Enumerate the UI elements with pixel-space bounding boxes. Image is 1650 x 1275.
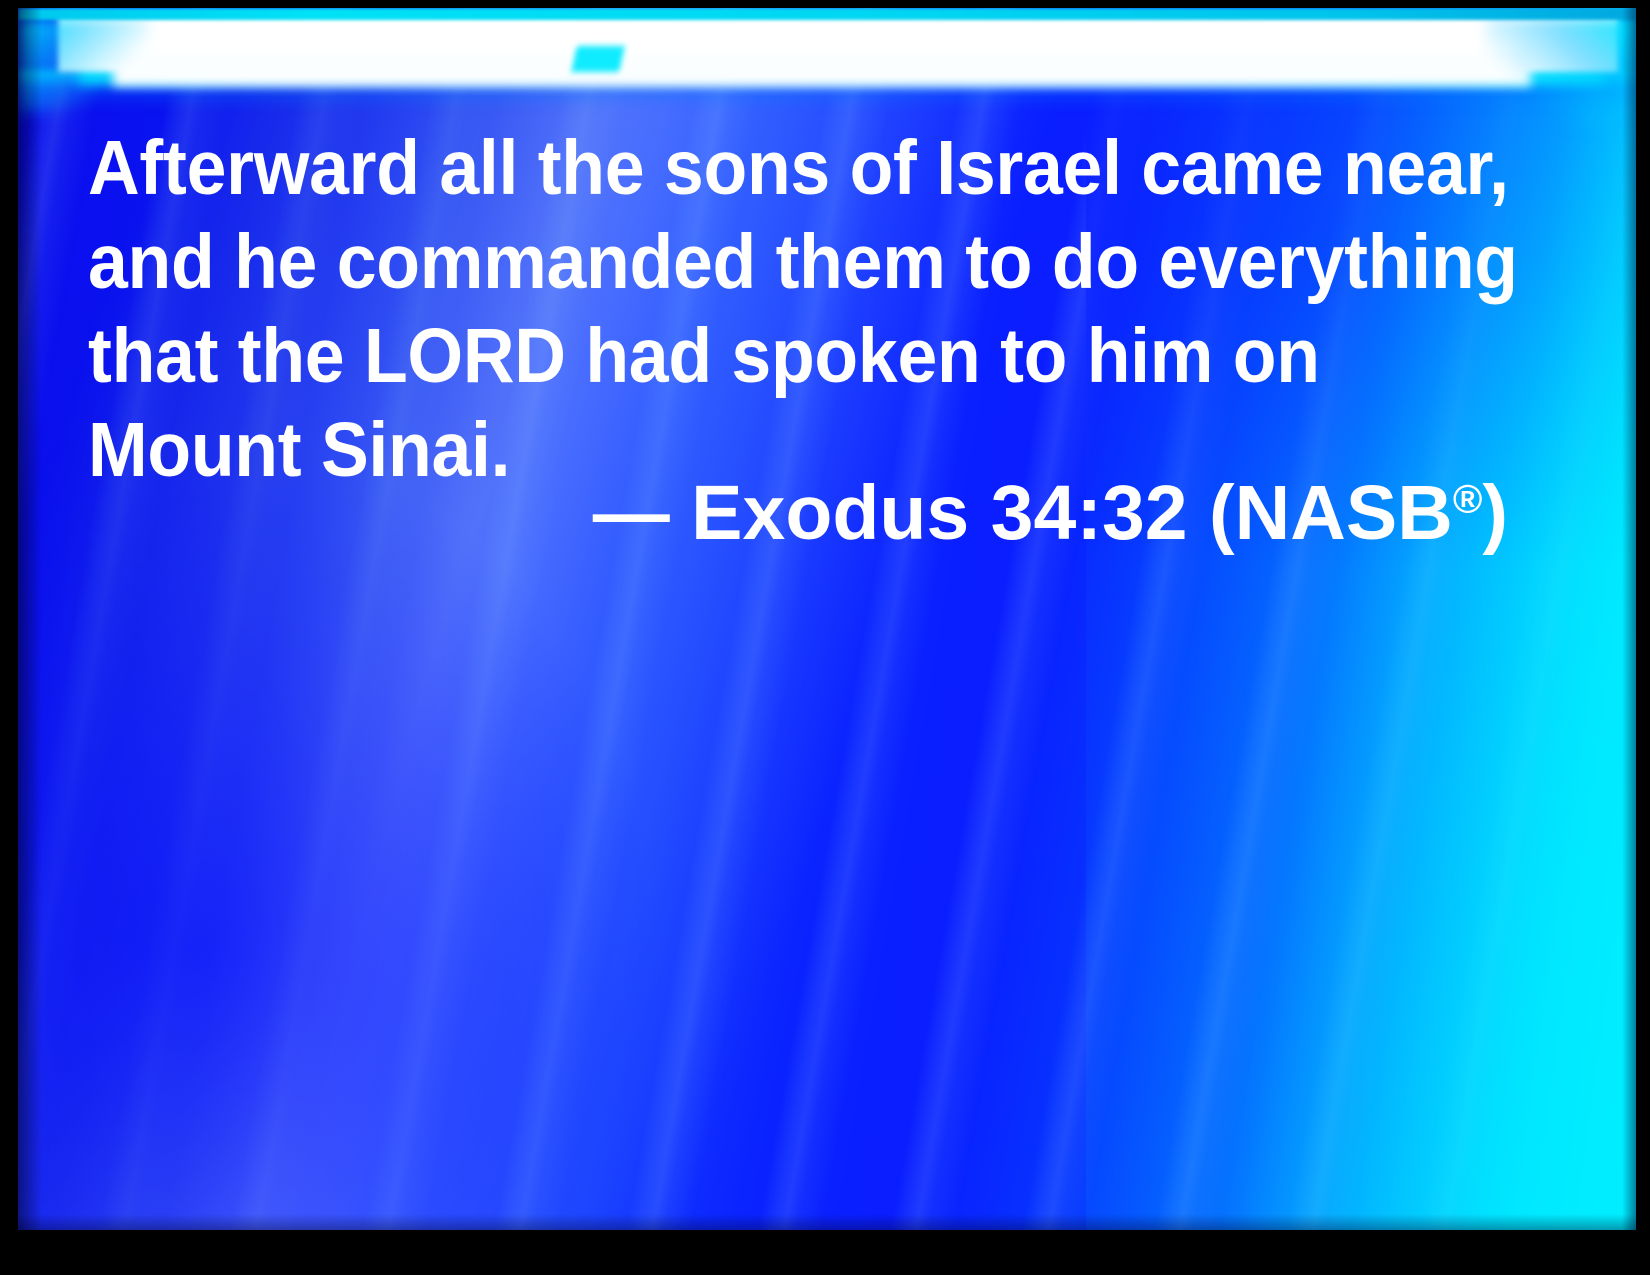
registered-trademark-icon: ® <box>1453 477 1483 521</box>
verse-line-2: and he commanded them to do everything <box>88 215 1409 309</box>
verse-text-block: Afterward all the sons of Israel came ne… <box>88 121 1508 497</box>
attribution-book: Exodus <box>691 470 969 556</box>
attribution-reference: 34:32 <box>991 470 1188 556</box>
attribution-translation-close: ) <box>1482 470 1508 556</box>
scripture-slide: Afterward all the sons of Israel came ne… <box>0 0 1650 1275</box>
verse-line-3: that the LORD had spoken to him on <box>88 309 1409 403</box>
attribution-translation-open: (NASB <box>1209 470 1453 556</box>
verse-line-1: Afterward all the sons of Israel came ne… <box>88 121 1409 215</box>
verse-attribution: — Exodus 34:32 (NASB®) <box>88 466 1508 560</box>
slide-canvas: Afterward all the sons of Israel came ne… <box>18 8 1636 1230</box>
attribution-dash: — <box>593 470 670 556</box>
